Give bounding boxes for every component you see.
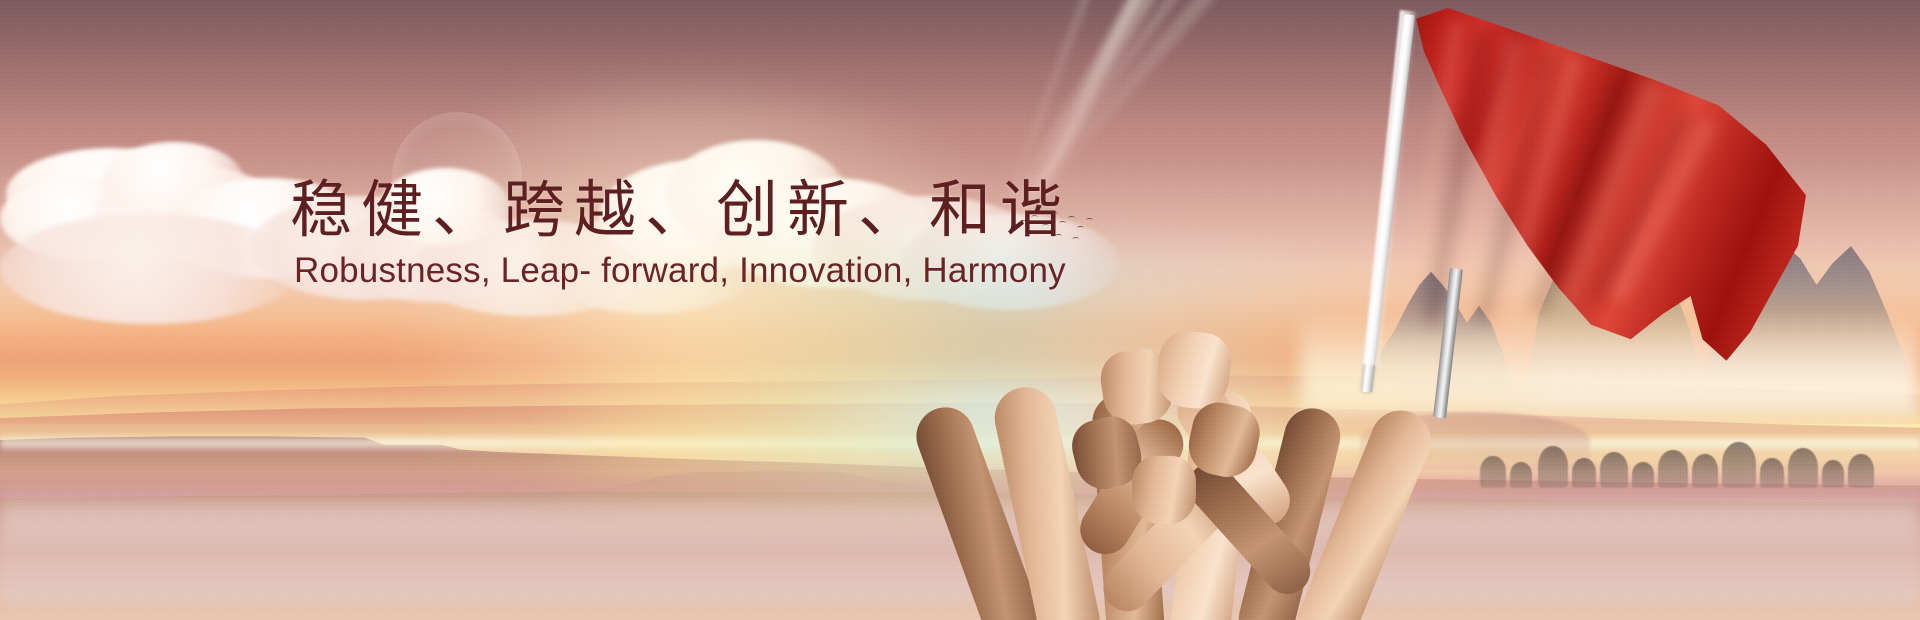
far-hill-right — [1360, 412, 1590, 470]
horizon-sun-streak — [0, 434, 1920, 452]
arm — [1178, 454, 1319, 604]
arm — [908, 399, 1048, 620]
arm — [1233, 402, 1346, 620]
low-mist-lower — [0, 532, 1920, 602]
tree — [1600, 452, 1628, 488]
fist — [1154, 328, 1234, 411]
low-mist-upper — [0, 490, 1920, 546]
tree — [1848, 454, 1874, 488]
arm — [1093, 466, 1246, 620]
page-title: 稳健、跨越、创新、和谐 — [290, 176, 1110, 245]
near-ridge — [0, 452, 1920, 562]
mesa-silhouette — [0, 404, 1920, 524]
fist — [1067, 411, 1148, 495]
mountain-mist — [1300, 310, 1920, 420]
arm — [1168, 386, 1255, 620]
tree — [1658, 450, 1688, 488]
tree — [1692, 454, 1718, 488]
corporate-slogan-banner: 稳健、跨越、创新、和谐 Robustness, Leap- forward, I… — [0, 0, 1920, 620]
arm — [1090, 392, 1166, 620]
fist — [1097, 345, 1177, 428]
fist — [1132, 456, 1196, 524]
fist — [1183, 398, 1264, 483]
arm — [1167, 375, 1300, 537]
tree — [1788, 448, 1818, 488]
arm — [1071, 410, 1193, 564]
arm — [989, 381, 1105, 620]
tree — [1722, 442, 1756, 488]
plateau-ridge — [480, 440, 1100, 510]
tree — [1822, 460, 1844, 488]
tree — [1760, 458, 1784, 488]
slogan-text-block: 稳健、跨越、创新、和谐 Robustness, Leap- forward, I… — [290, 176, 1110, 292]
tree — [1632, 462, 1654, 488]
page-subtitle: Robustness, Leap- forward, Innovation, H… — [294, 251, 1110, 291]
